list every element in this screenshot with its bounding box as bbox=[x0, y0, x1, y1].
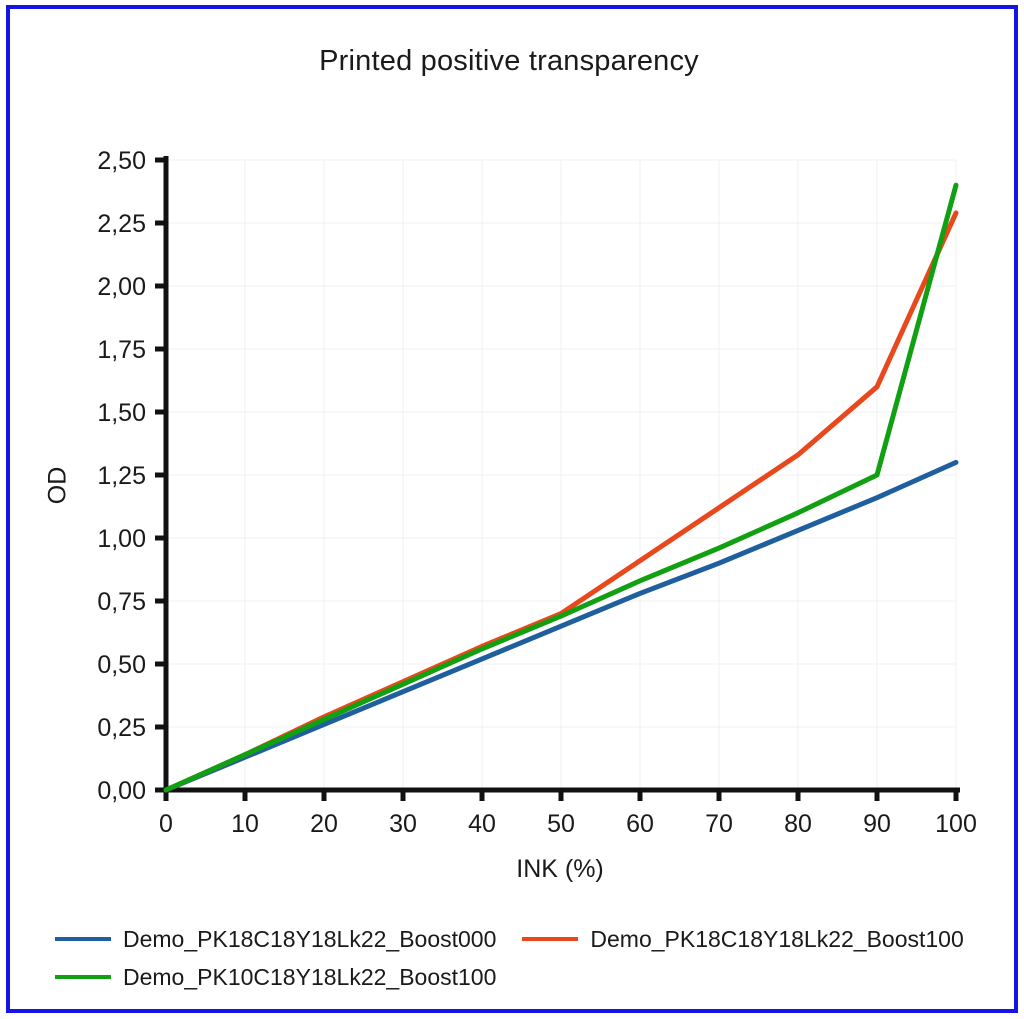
legend-item-label: Demo_PK18C18Y18Lk22_Boost100 bbox=[590, 926, 963, 953]
legend-item-label: Demo_PK18C18Y18Lk22_Boost000 bbox=[123, 926, 496, 953]
svg-text:90: 90 bbox=[863, 810, 891, 838]
svg-text:0,25: 0,25 bbox=[97, 714, 146, 742]
legend-item-label: Demo_PK10C18Y18Lk22_Boost100 bbox=[123, 964, 496, 991]
svg-text:100: 100 bbox=[935, 810, 977, 838]
legend-item[interactable]: Demo_PK18C18Y18Lk22_Boost100 bbox=[522, 926, 963, 953]
axis-ticks bbox=[155, 160, 956, 801]
svg-text:0: 0 bbox=[159, 810, 173, 838]
svg-text:0,50: 0,50 bbox=[97, 651, 146, 679]
x-axis-label: INK (%) bbox=[160, 855, 960, 884]
legend-row: Demo_PK18C18Y18Lk22_Boost000Demo_PK18C18… bbox=[55, 920, 995, 958]
svg-text:1,50: 1,50 bbox=[97, 399, 146, 427]
legend-item[interactable]: Demo_PK10C18Y18Lk22_Boost100 bbox=[55, 964, 496, 991]
svg-text:10: 10 bbox=[231, 810, 259, 838]
svg-text:60: 60 bbox=[626, 810, 654, 838]
svg-text:70: 70 bbox=[705, 810, 733, 838]
chart-legend: Demo_PK18C18Y18Lk22_Boost000Demo_PK18C18… bbox=[55, 920, 995, 996]
svg-text:2,50: 2,50 bbox=[97, 147, 146, 175]
x-axis-label-text: INK (%) bbox=[516, 855, 604, 883]
svg-text:40: 40 bbox=[468, 810, 496, 838]
svg-text:80: 80 bbox=[784, 810, 812, 838]
svg-text:1,25: 1,25 bbox=[97, 462, 146, 490]
y-axis-label: OD bbox=[28, 430, 88, 540]
svg-text:20: 20 bbox=[310, 810, 338, 838]
chart-page: Printed positive transparency 0,000,250,… bbox=[0, 0, 1024, 1019]
svg-text:0,00: 0,00 bbox=[97, 777, 146, 805]
legend-row: Demo_PK10C18Y18Lk22_Boost100 bbox=[55, 958, 995, 996]
svg-text:2,00: 2,00 bbox=[97, 273, 146, 301]
legend-color-swatch bbox=[55, 937, 111, 941]
svg-text:2,25: 2,25 bbox=[97, 210, 146, 238]
legend-color-swatch bbox=[522, 937, 578, 941]
svg-text:50: 50 bbox=[547, 810, 575, 838]
legend-item[interactable]: Demo_PK18C18Y18Lk22_Boost000 bbox=[55, 926, 496, 953]
y-axis-label-text: OD bbox=[44, 466, 73, 504]
svg-text:30: 30 bbox=[389, 810, 417, 838]
svg-text:1,75: 1,75 bbox=[97, 336, 146, 364]
legend-color-swatch bbox=[55, 975, 111, 979]
svg-text:0,75: 0,75 bbox=[97, 588, 146, 616]
gridlines bbox=[166, 160, 956, 790]
axis-lines bbox=[166, 156, 960, 790]
svg-text:1,00: 1,00 bbox=[97, 525, 146, 553]
